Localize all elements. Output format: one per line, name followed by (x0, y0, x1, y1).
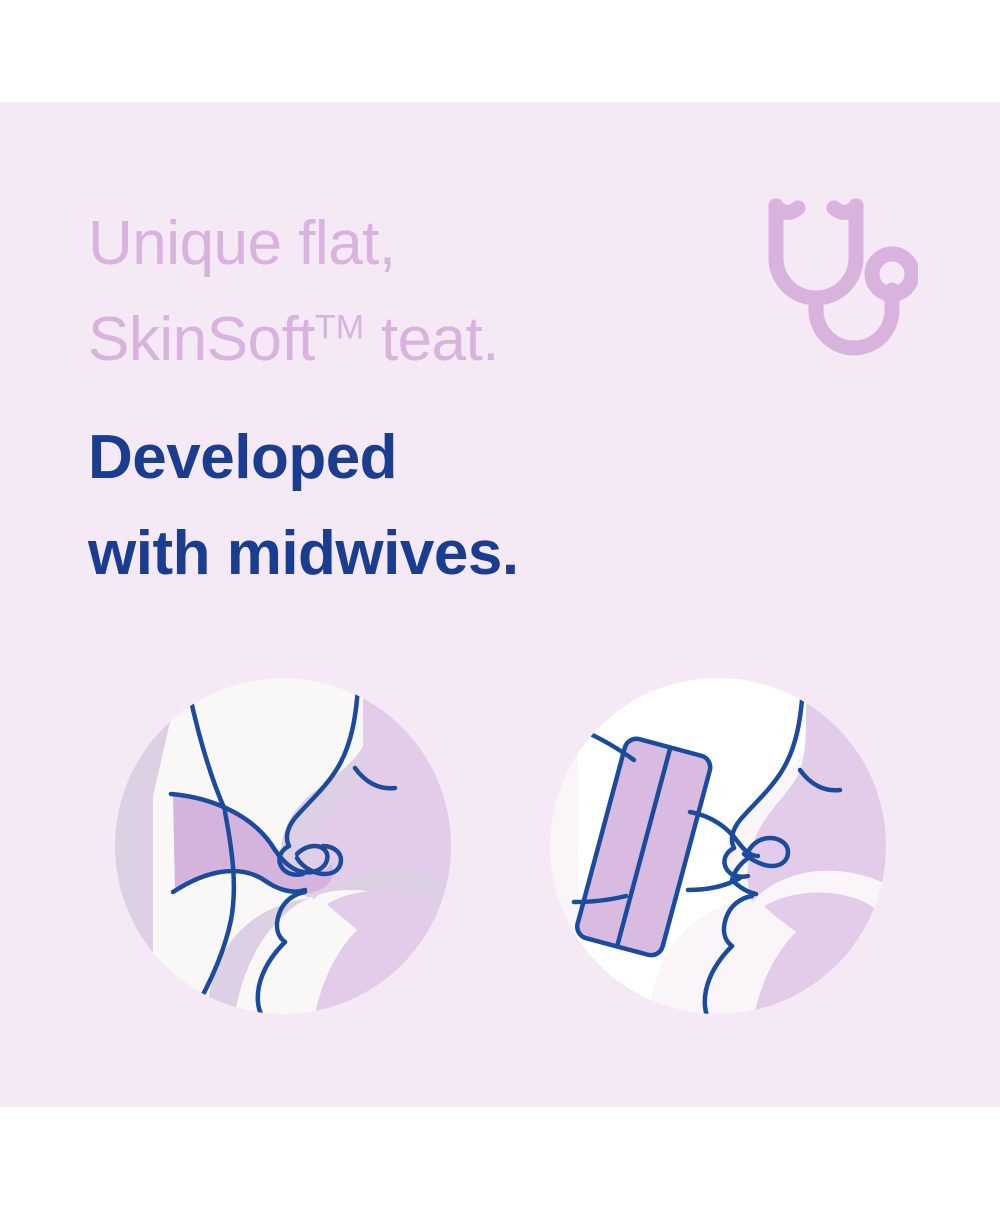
headline-block: Unique flat, SkinSoftTM teat. Developed … (88, 196, 788, 602)
graphic-canvas: Unique flat, SkinSoftTM teat. Developed … (0, 0, 1000, 1208)
breastfeeding-latch-illustration (113, 676, 453, 1016)
bottle-teat-latch-illustration (548, 676, 888, 1016)
headline-strong-line-2: with midwives. (88, 506, 788, 602)
brand-name-skinsoft: SkinSoft (88, 305, 315, 374)
headline-muted-line-2-tail: teat. (364, 305, 499, 374)
headline-strong-wrap: Developed with midwives. (88, 410, 788, 602)
trademark-symbol: TM (315, 308, 364, 346)
headline-strong-line-1: Developed (88, 410, 788, 506)
stethoscope-icon (758, 186, 918, 366)
headline-muted-line-1: Unique flat, (88, 196, 788, 292)
illustration-row (0, 676, 1000, 1016)
headline-muted-line-2: SkinSoftTM teat. (88, 292, 788, 388)
